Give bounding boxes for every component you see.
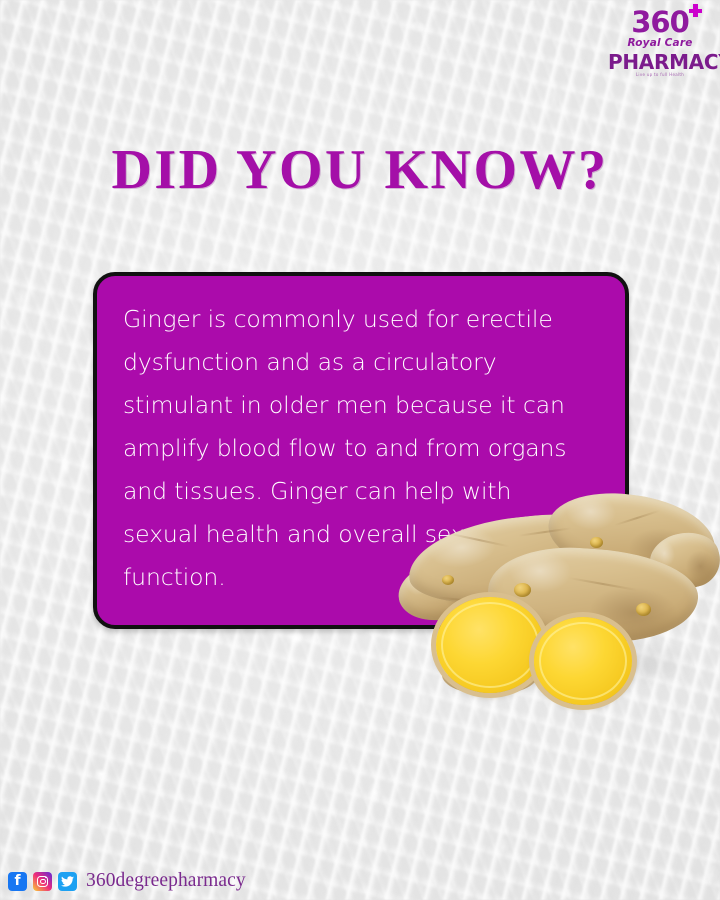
ginger-bud: [590, 537, 603, 548]
ginger-bud: [442, 575, 454, 585]
ginger-cut-section: [436, 597, 544, 693]
logo-name: PHARMACY: [608, 52, 712, 72]
facebook-icon[interactable]: f: [8, 872, 27, 891]
brand-logo: 360 Royal Care PHARMACY Live up to full …: [608, 8, 712, 77]
logo-subbrand: Royal Care: [608, 38, 712, 49]
poster-canvas: 360 Royal Care PHARMACY Live up to full …: [0, 0, 720, 900]
footer-social-bar: f 360degreepharmacy: [8, 870, 246, 892]
ginger-bud: [636, 603, 651, 616]
instagram-icon[interactable]: [33, 872, 52, 891]
ginger-bud: [514, 583, 531, 597]
twitter-icon[interactable]: [58, 872, 77, 891]
ginger-cut-section: [534, 617, 632, 705]
logo-tagline: Live up to full Health: [608, 73, 712, 77]
social-handle: 360degreepharmacy: [86, 870, 246, 892]
medical-cross-icon: [689, 4, 702, 17]
logo-number-row: 360: [631, 8, 689, 37]
logo-number: 360: [631, 5, 689, 39]
ginger-root-photo: [398, 487, 720, 707]
page-title: DID YOU KNOW?: [0, 138, 720, 202]
